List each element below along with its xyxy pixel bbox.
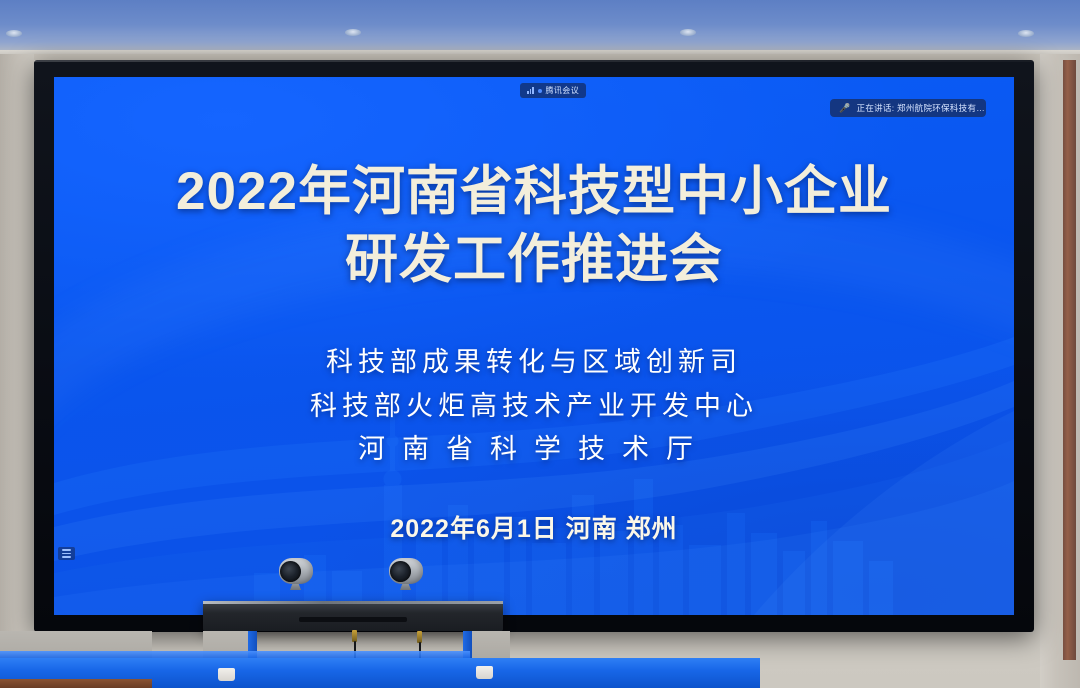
soundbar-speaker-slot [299, 617, 407, 622]
ceiling-downlight [680, 29, 696, 36]
slide-content: 2022年河南省科技型中小企业 研发工作推进会 科技部成果转化与区域创新司 科技… [54, 77, 1014, 615]
speaking-label: 正在讲话: 郑州航院环保科技有… [857, 102, 986, 114]
table-wood-edge [0, 679, 152, 688]
organizer-line-3: 河南省科学技术厅 [54, 428, 1014, 472]
display-bezel: 2022年河南省科技型中小企业 研发工作推进会 科技部成果转化与区域创新司 科技… [34, 60, 1034, 632]
wall-left-return [0, 54, 34, 688]
table-surface-rear [0, 651, 470, 658]
organizer-line-1: 科技部成果转化与区域创新司 [54, 341, 1014, 385]
ceiling-downlight [1018, 30, 1034, 37]
speaking-indicator[interactable]: 🎤 正在讲话: 郑州航院环保科技有… [830, 99, 986, 117]
soundbar-top-edge [203, 601, 503, 604]
ptz-camera-right [389, 558, 423, 588]
ceiling-downlight [345, 29, 361, 36]
slide-date-location: 2022年6月1日 河南 郑州 [54, 509, 1014, 545]
camera-lens [280, 561, 301, 582]
slide-title: 2022年河南省科技型中小企业 研发工作推进会 [54, 158, 1014, 294]
slide-title-line-2: 研发工作推进会 [54, 226, 1014, 294]
display-screen[interactable]: 2022年河南省科技型中小企业 研发工作推进会 科技部成果转化与区域创新司 科技… [54, 77, 1014, 615]
tencent-meeting-badge[interactable]: 腾讯会议 [520, 83, 586, 98]
status-dot-icon [538, 89, 542, 93]
hamburger-menu-icon[interactable] [58, 547, 75, 560]
slide-organizers: 科技部成果转化与区域创新司 科技部火炬高技术产业开发中心 河南省科学技术厅 [54, 341, 1014, 472]
bezel-highlight [34, 60, 1034, 62]
organizer-line-2: 科技部火炬高技术产业开发中心 [54, 385, 1014, 429]
paper-cup [476, 666, 493, 679]
ceiling-downlight [6, 30, 22, 37]
conference-soundbar [203, 601, 503, 631]
slide-title-line-1: 2022年河南省科技型中小企业 [54, 158, 1014, 226]
signal-bars-icon [527, 87, 534, 94]
paper-cup [218, 668, 235, 681]
ptz-camera-left [279, 558, 313, 588]
wood-wall-panel [1063, 60, 1076, 660]
tencent-meeting-label: 腾讯会议 [546, 85, 580, 96]
ceiling [0, 0, 1080, 54]
camera-lens [390, 561, 411, 582]
conference-room-scene: 2022年河南省科技型中小企业 研发工作推进会 科技部成果转化与区域创新司 科技… [0, 0, 1080, 688]
microphone-icon: 🎤 [839, 104, 851, 113]
